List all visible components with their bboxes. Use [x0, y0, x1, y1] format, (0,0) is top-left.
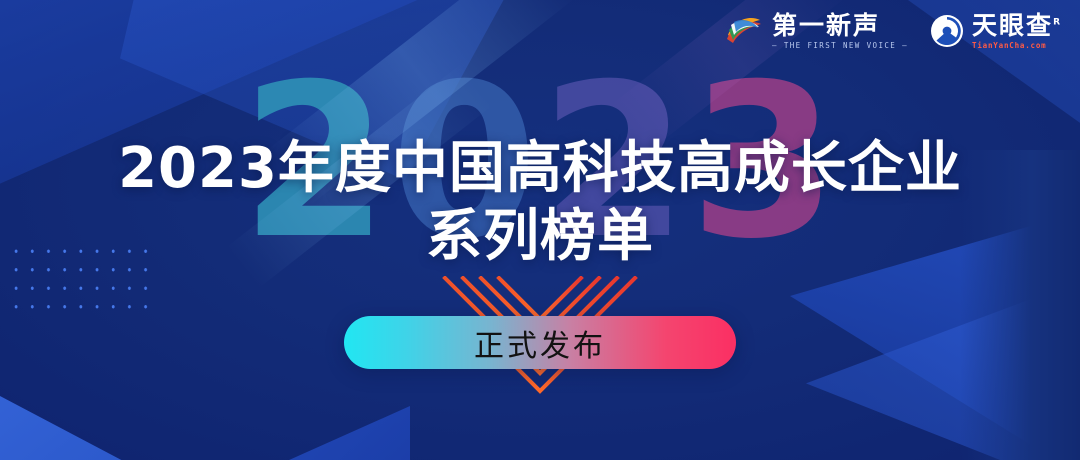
logo-bar: 第一新声 — THE FIRST NEW VOICE — 天眼查R TianYa… [724, 12, 1062, 50]
banner-title: 2023年度中国高科技高成长企业 系列榜单 [0, 136, 1080, 270]
logo-tianyancha[interactable]: 天眼查R TianYanCha.com [930, 12, 1062, 50]
title-line-2: 系列榜单 [0, 204, 1080, 270]
diyixinsheng-tagline: — THE FIRST NEW VOICE — [772, 41, 908, 50]
release-status-pill[interactable]: 正式发布 [344, 316, 736, 369]
diyixinsheng-text: 第一新声 — THE FIRST NEW VOICE — [772, 12, 908, 50]
tianyancha-tagline: TianYanCha.com [972, 41, 1062, 50]
tianyancha-eye-icon [930, 14, 964, 48]
tianyancha-name-label: 天眼查 [972, 11, 1053, 40]
tianyancha-text: 天眼查R TianYanCha.com [972, 12, 1062, 50]
tianyancha-name: 天眼查R [972, 12, 1062, 39]
promotional-banner: 2023 [0, 0, 1080, 460]
release-status-label: 正式发布 [474, 321, 606, 365]
title-line-1: 2023年度中国高科技高成长企业 [0, 136, 1080, 202]
diyixinsheng-ribbon-icon [724, 13, 764, 49]
registered-mark-icon: R [1053, 18, 1062, 28]
diyixinsheng-name: 第一新声 [772, 12, 908, 39]
logo-diyixinsheng[interactable]: 第一新声 — THE FIRST NEW VOICE — [724, 12, 908, 50]
